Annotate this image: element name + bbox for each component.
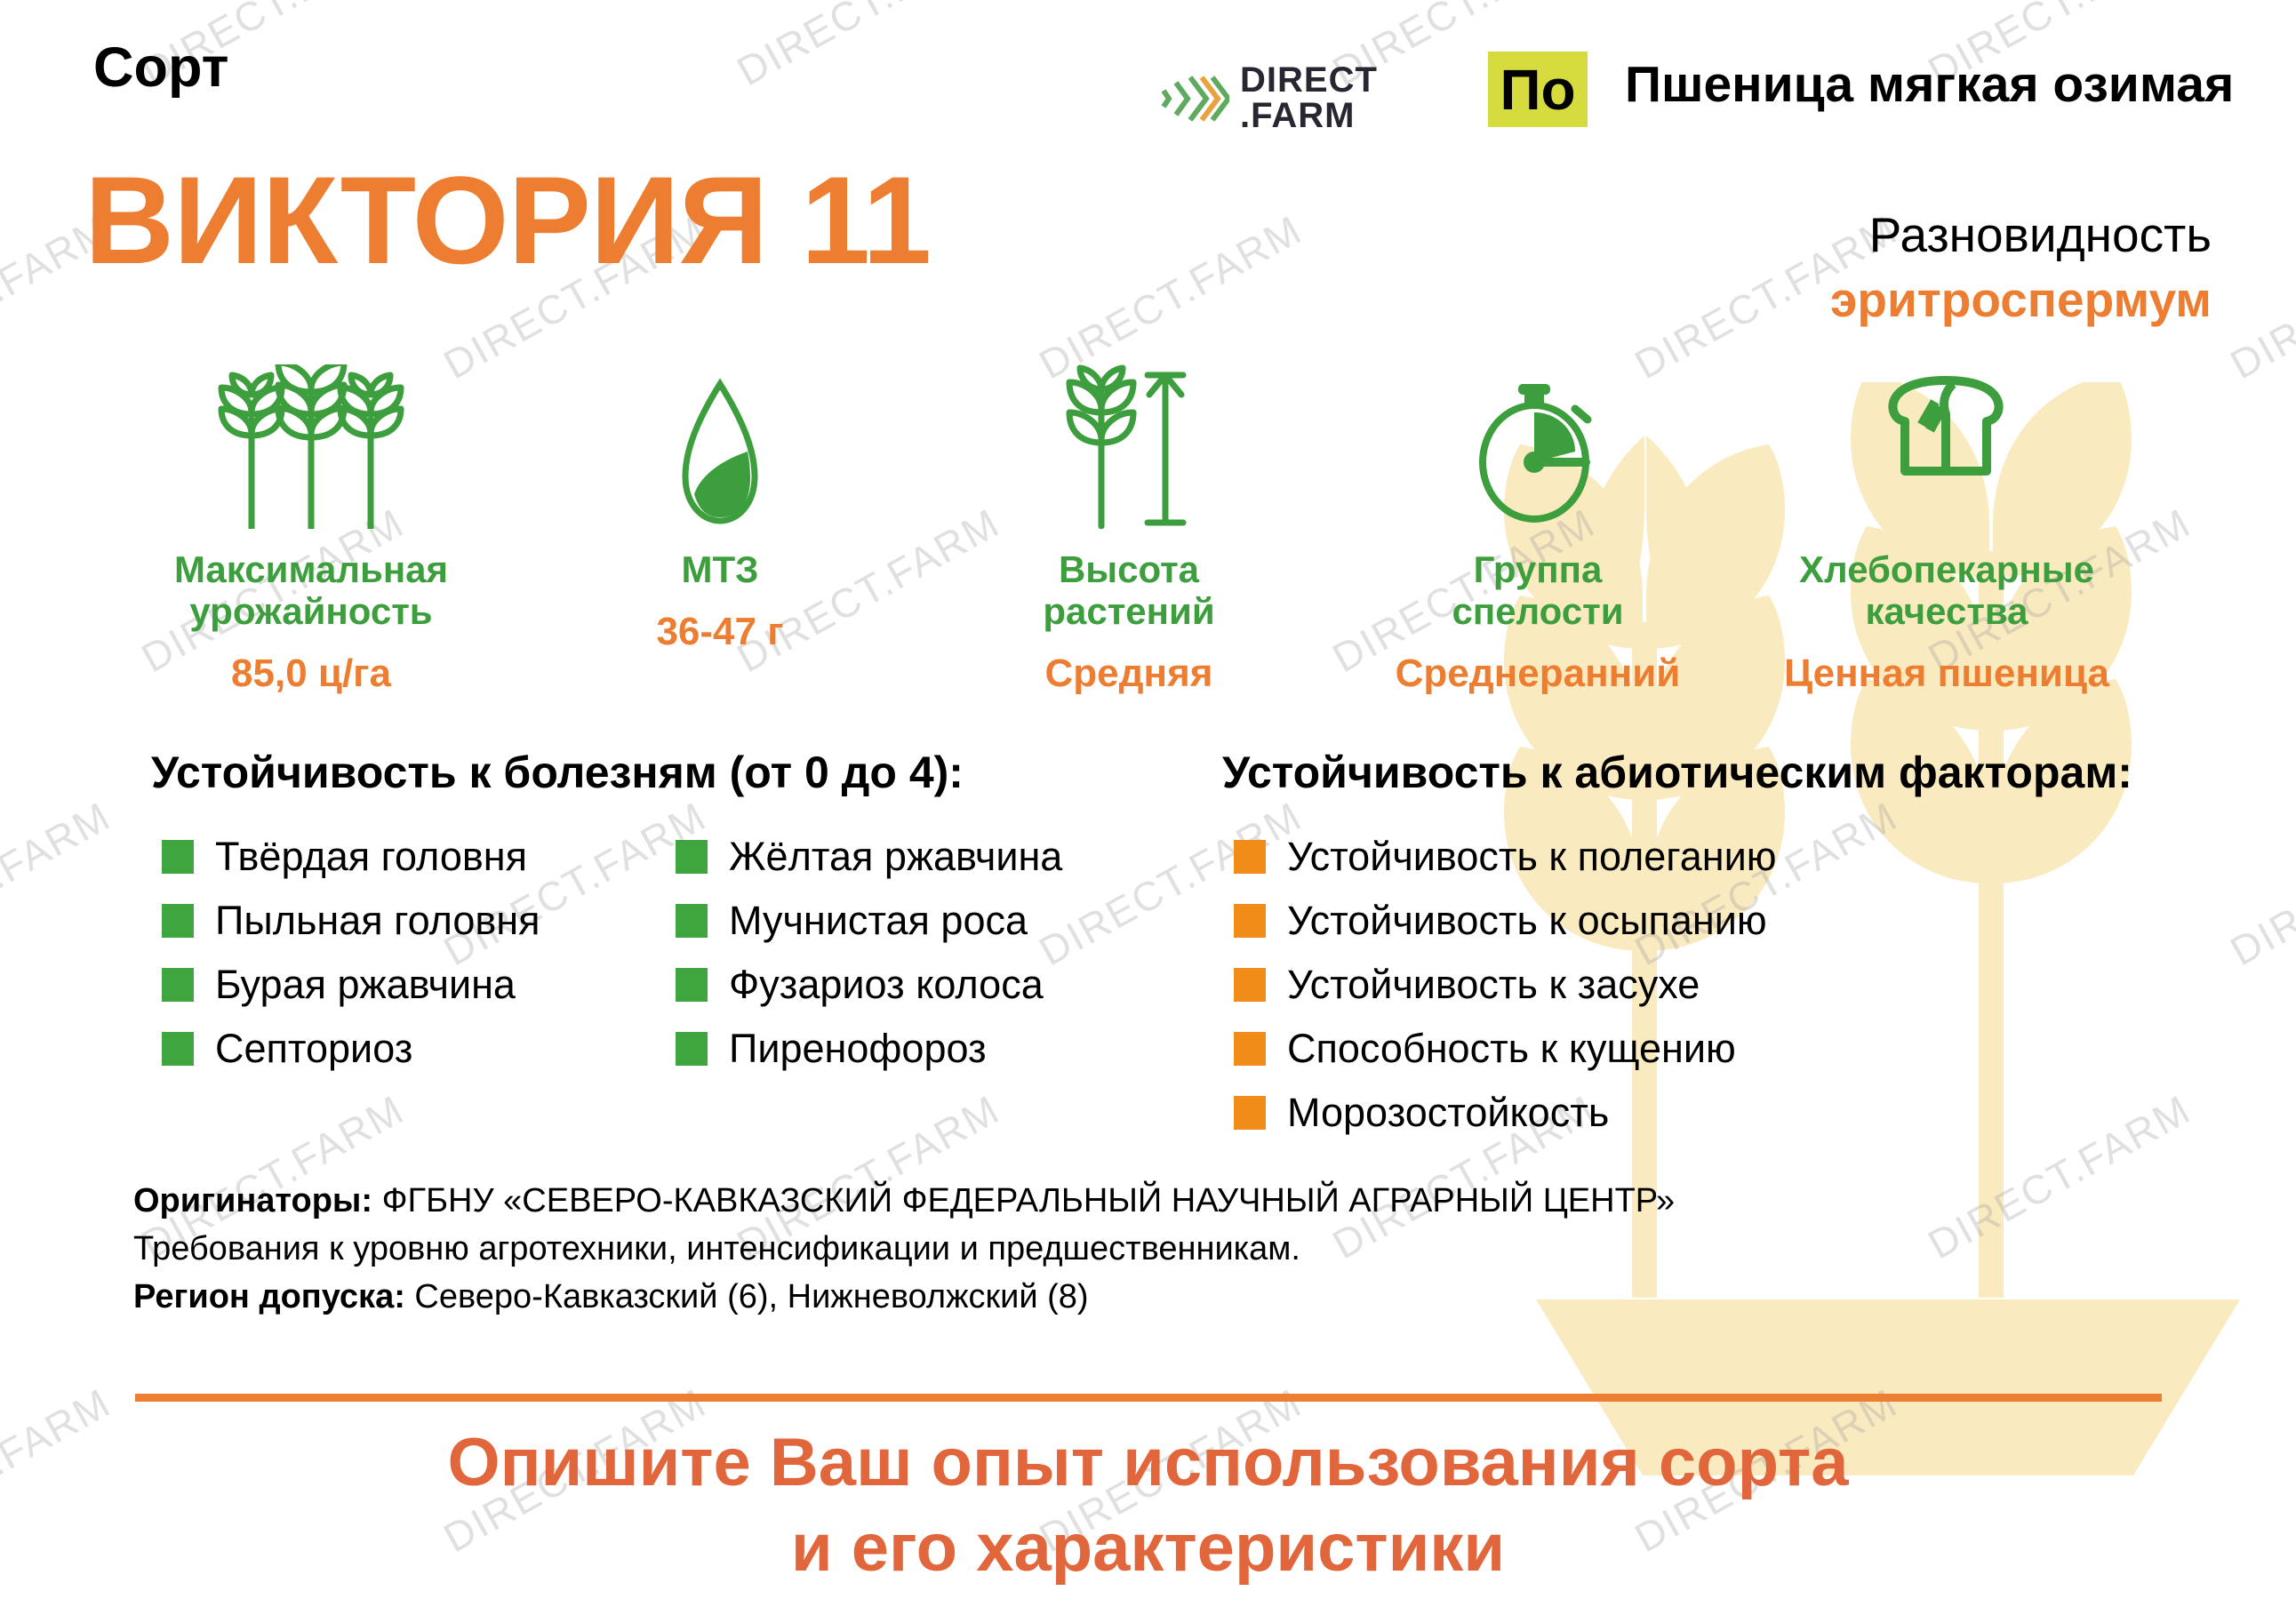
abiotic-resistance-heading: Устойчивость к абиотическим факторам: bbox=[1222, 747, 2132, 798]
list-item-label: Устойчивость к полеганию bbox=[1287, 834, 1776, 880]
metric-label-line2: качества bbox=[1742, 590, 2151, 632]
list-item: Бурая ржавчина bbox=[162, 953, 540, 1017]
orange-divider bbox=[135, 1394, 2162, 1402]
metric-value: Ценная пшеница bbox=[1742, 652, 2151, 696]
grain-drop-icon bbox=[516, 360, 924, 529]
list-item: Пыльная головня bbox=[162, 889, 540, 953]
bullet-square-icon bbox=[676, 968, 708, 1002]
region-label: Регион допуска: bbox=[133, 1278, 405, 1315]
disease-list-column-1: Твёрдая головня Пыльная головня Бурая рж… bbox=[162, 825, 540, 1081]
po-badge: По bbox=[1488, 52, 1588, 127]
metrics-row: Максимальная урожайность 85,0 ц/га МТЗ 3… bbox=[107, 360, 2240, 696]
bullet-square-icon bbox=[162, 968, 194, 1002]
variety-value: эритроспермум bbox=[1830, 271, 2212, 328]
list-item: Пиренофороз bbox=[676, 1017, 1062, 1081]
infographic-page: DIRECT.FARM DIRECT.FARM DIRECT.FARM DIRE… bbox=[0, 0, 2296, 1615]
bullet-square-icon bbox=[162, 1032, 194, 1066]
metric-label-line1: Максимальная bbox=[107, 548, 516, 590]
metric-label-line1: Высота bbox=[924, 548, 1333, 590]
metric-plant-height: Высота растений Средняя bbox=[924, 360, 1333, 696]
metric-value: 36-47 г bbox=[516, 610, 924, 654]
list-item: Устойчивость к полеганию bbox=[1234, 825, 1776, 889]
watermark-text: DIRECT.FARM bbox=[729, 0, 1008, 95]
originators-value: ФГБНУ «СЕВЕРО-КАВКАЗСКИЙ ФЕДЕРАЛЬНЫЙ НАУ… bbox=[382, 1182, 1676, 1219]
metric-label: Группа спелости bbox=[1333, 548, 1742, 632]
originators-label: Оригинаторы: bbox=[133, 1182, 372, 1219]
plant-height-arrow-icon bbox=[924, 360, 1333, 529]
metric-label-line2: растений bbox=[924, 590, 1333, 632]
disease-resistance-heading: Устойчивость к болезням (от 0 до 4): bbox=[151, 747, 964, 798]
metric-label: Высота растений bbox=[924, 548, 1333, 632]
list-item: Фузариоз колоса bbox=[676, 953, 1062, 1017]
list-item: Способность к кущению bbox=[1234, 1017, 1776, 1081]
bullet-square-icon bbox=[162, 904, 194, 938]
list-item: Устойчивость к засухе bbox=[1234, 953, 1776, 1017]
bullet-square-icon bbox=[676, 904, 708, 938]
metric-tkw: МТЗ 36-47 г bbox=[516, 360, 924, 696]
disease-list-column-2: Жёлтая ржавчина Мучнистая роса Фузариоз … bbox=[676, 825, 1062, 1081]
variety-label: Разновидность bbox=[1869, 206, 2212, 263]
metric-value: Средняя bbox=[924, 652, 1333, 696]
list-item-label: Твёрдая головня bbox=[215, 834, 527, 880]
metric-ripeness-group: Группа спелости Среднеранний bbox=[1333, 360, 1742, 696]
list-item-label: Морозостойкость bbox=[1287, 1090, 1609, 1136]
metric-label-line1: МТЗ bbox=[516, 548, 924, 590]
list-item: Морозостойкость bbox=[1234, 1081, 1776, 1145]
list-item-label: Мучнистая роса bbox=[729, 898, 1028, 944]
metric-value: Среднеранний bbox=[1333, 652, 1742, 696]
metric-label: Максимальная урожайность bbox=[107, 548, 516, 632]
metric-label: МТЗ bbox=[516, 548, 924, 590]
logo-line-2: .FARM bbox=[1240, 99, 1378, 133]
list-item: Устойчивость к осыпанию bbox=[1234, 889, 1776, 953]
metric-label: Хлебопекарные качества bbox=[1742, 548, 2151, 632]
metric-label-line2: урожайность bbox=[107, 590, 516, 632]
bullet-square-icon bbox=[1234, 968, 1266, 1002]
sort-label: Сорт bbox=[93, 36, 229, 100]
list-item-label: Устойчивость к осыпанию bbox=[1287, 898, 1767, 944]
originator-info: Оригинаторы: ФГБНУ «СЕВЕРО-КАВКАЗСКИЙ ФЕ… bbox=[133, 1178, 1675, 1322]
abiotic-list: Устойчивость к полеганию Устойчивость к … bbox=[1234, 825, 1776, 1145]
cta-line-2: и его характеристики bbox=[0, 1506, 2296, 1591]
list-item-label: Жёлтая ржавчина bbox=[729, 834, 1062, 880]
bullet-square-icon bbox=[1234, 840, 1266, 874]
list-item-label: Пиренофороз bbox=[729, 1026, 987, 1072]
bullet-square-icon bbox=[676, 840, 708, 874]
bread-loaf-icon bbox=[1742, 360, 2151, 529]
chevron-logo-icon bbox=[1160, 66, 1229, 132]
region-value: Северо-Кавказский (6), Нижневолжский (8) bbox=[414, 1278, 1088, 1315]
metric-max-yield: Максимальная урожайность 85,0 ц/га bbox=[107, 360, 516, 696]
watermark-text: DIRECT.FARM bbox=[1920, 1085, 2199, 1269]
list-item-label: Пыльная головня bbox=[215, 898, 540, 944]
list-item-label: Способность к кущению bbox=[1287, 1026, 1736, 1072]
watermark-text: DIRECT.FARM bbox=[2222, 792, 2296, 976]
watermark-text: DIRECT.FARM bbox=[0, 792, 119, 976]
list-item: Мучнистая роса bbox=[676, 889, 1062, 953]
bullet-square-icon bbox=[1234, 1032, 1266, 1066]
metric-label-line1: Группа bbox=[1333, 548, 1742, 590]
list-item: Жёлтая ржавчина bbox=[676, 825, 1062, 889]
list-item: Твёрдая головня bbox=[162, 825, 540, 889]
page-title: ВИКТОРИЯ 11 bbox=[84, 158, 931, 283]
metric-value: 85,0 ц/га bbox=[107, 652, 516, 696]
list-item-label: Фузариоз колоса bbox=[729, 962, 1044, 1008]
cta-line-1: Опишите Ваш опыт использования сорта bbox=[0, 1420, 2296, 1506]
bullet-square-icon bbox=[676, 1032, 708, 1066]
list-item-label: Бурая ржавчина bbox=[215, 962, 516, 1008]
originators-line: Оригинаторы: ФГБНУ «СЕВЕРО-КАВКАЗСКИЙ ФЕ… bbox=[133, 1178, 1675, 1226]
metric-label-line2: спелости bbox=[1333, 590, 1742, 632]
region-line: Регион допуска: Северо-Кавказский (6), Н… bbox=[133, 1274, 1675, 1322]
metric-label-line1: Хлебопекарные bbox=[1742, 548, 2151, 590]
po-badge-text: По bbox=[1500, 61, 1575, 118]
stopwatch-icon bbox=[1333, 360, 1742, 529]
bullet-square-icon bbox=[1234, 1096, 1266, 1130]
logo-line-1: DIRECT bbox=[1240, 63, 1378, 98]
list-item: Септориоз bbox=[162, 1017, 540, 1081]
bullet-square-icon bbox=[1234, 904, 1266, 938]
list-item-label: Устойчивость к засухе bbox=[1287, 962, 1700, 1008]
requirements-line: Требования к уровню агротехники, интенси… bbox=[133, 1226, 1675, 1274]
logo-wordmark: DIRECT .FARM bbox=[1240, 63, 1378, 132]
direct-farm-logo[interactable]: DIRECT .FARM bbox=[1160, 52, 1382, 145]
three-wheat-ears-icon bbox=[107, 360, 516, 529]
call-to-action: Опишите Ваш опыт использования сорта и е… bbox=[0, 1420, 2296, 1591]
crop-name: Пшеница мягкая озимая bbox=[1625, 55, 2234, 114]
bullet-square-icon bbox=[162, 840, 194, 874]
metric-baking-quality: Хлебопекарные качества Ценная пшеница bbox=[1742, 360, 2151, 696]
list-item-label: Септориоз bbox=[215, 1026, 412, 1072]
